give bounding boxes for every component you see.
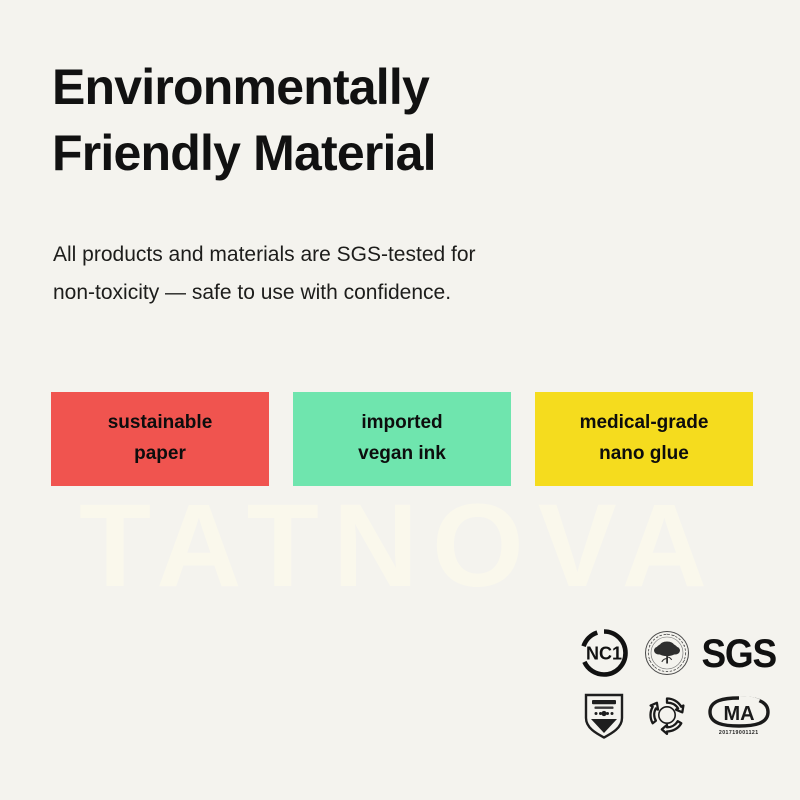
material-chip-label-line-1: medical-grade [580, 408, 709, 439]
nc1-label: NC1 [586, 644, 622, 664]
material-chip-label-line-2: vegan ink [358, 439, 446, 470]
material-chip-label-line-2: paper [134, 439, 186, 470]
recycling-certification-badge [639, 686, 696, 744]
page-subtitle-line-1: All products and materials are SGS-teste… [53, 236, 673, 274]
brand-watermark: TATNOVA [0, 486, 800, 606]
material-chip-list: sustainable paper imported vegan ink med… [51, 392, 753, 486]
sgs-certification-badge: SGS [701, 624, 776, 682]
page-title-line-2: Friendly Material [52, 120, 712, 186]
tree-seal-icon [643, 629, 691, 677]
cma-certification-badge: MA 201719001121 [701, 686, 776, 744]
cma-icon: MA [707, 695, 771, 729]
page-subtitle: All products and materials are SGS-teste… [53, 236, 673, 312]
material-chip-label-line-1: sustainable [108, 408, 213, 439]
page-subtitle-line-2: non-toxicity — safe to use with confiden… [53, 274, 673, 312]
shield-icon [582, 690, 626, 740]
shield-certification-badge [576, 686, 633, 744]
material-chip-medical-grade-nano-glue: medical-grade nano glue [535, 392, 753, 486]
nc1-certification-badge: NC1 [576, 624, 633, 682]
cma-certificate-number: 201719001121 [719, 730, 759, 736]
recycle-icon [643, 691, 691, 739]
material-chip-imported-vegan-ink: imported vegan ink [293, 392, 511, 486]
cma-label: MA [723, 703, 754, 725]
material-chip-sustainable-paper: sustainable paper [51, 392, 269, 486]
page-title: Environmentally Friendly Material [52, 54, 712, 186]
forestry-seal-certification-badge [639, 624, 696, 682]
material-chip-label-line-1: imported [361, 408, 442, 439]
page-title-line-1: Environmentally [52, 54, 712, 120]
material-chip-label-line-2: nano glue [599, 439, 689, 470]
certification-badge-grid: NC1 [576, 624, 776, 744]
nc1-icon: NC1 [579, 628, 629, 678]
sgs-logo-text: SGS [701, 633, 776, 673]
